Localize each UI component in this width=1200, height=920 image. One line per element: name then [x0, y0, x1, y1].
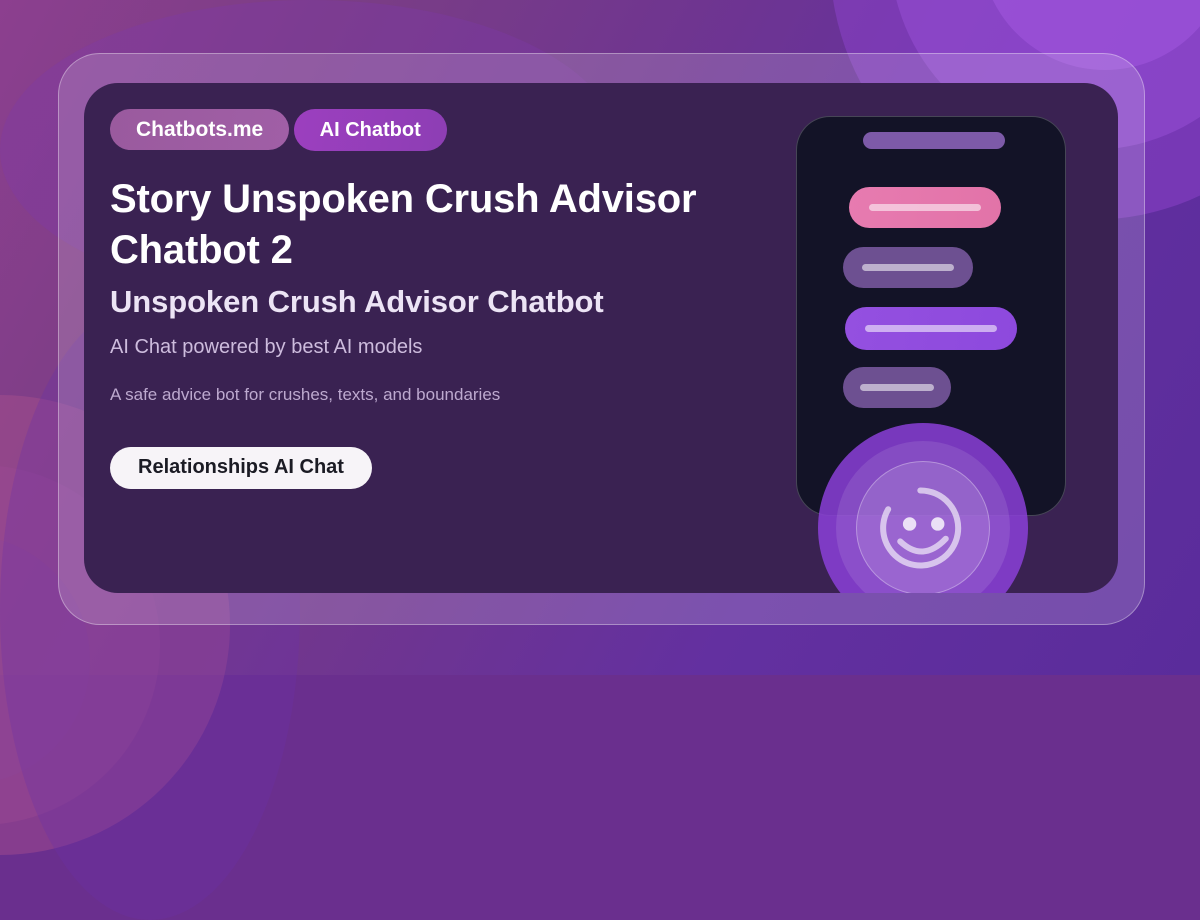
- bubble-text-line: [862, 264, 954, 271]
- bubble-text-line: [860, 384, 934, 391]
- preview-message-bubble-muted-2: [843, 367, 951, 408]
- avatar: [818, 423, 1028, 593]
- preview-message-bubble-muted-1: [843, 247, 973, 288]
- description-text: A safe advice bot for crushes, texts, an…: [110, 385, 810, 405]
- preview-header-bar: [863, 132, 1005, 149]
- hero-card: Chatbots.me AI Chatbot Story Unspoken Cr…: [84, 83, 1118, 593]
- preview-message-bubble-purple: [845, 307, 1017, 350]
- hero-content: Chatbots.me AI Chatbot Story Unspoken Cr…: [110, 109, 810, 489]
- page-subtitle: Unspoken Crush Advisor Chatbot: [110, 284, 810, 320]
- category-badge[interactable]: AI Chatbot: [294, 109, 447, 151]
- bubble-text-line: [865, 325, 997, 332]
- tagline-text: AI Chat powered by best AI models: [110, 336, 810, 359]
- page-title: Story Unspoken Crush Advisor Chatbot 2: [110, 174, 770, 276]
- relationships-ai-chat-button[interactable]: Relationships AI Chat: [110, 447, 372, 489]
- bubble-text-line: [869, 204, 981, 211]
- preview-message-bubble-pink: [849, 187, 1001, 228]
- brand-badge[interactable]: Chatbots.me: [110, 109, 289, 150]
- smiley-face-icon: [856, 461, 990, 593]
